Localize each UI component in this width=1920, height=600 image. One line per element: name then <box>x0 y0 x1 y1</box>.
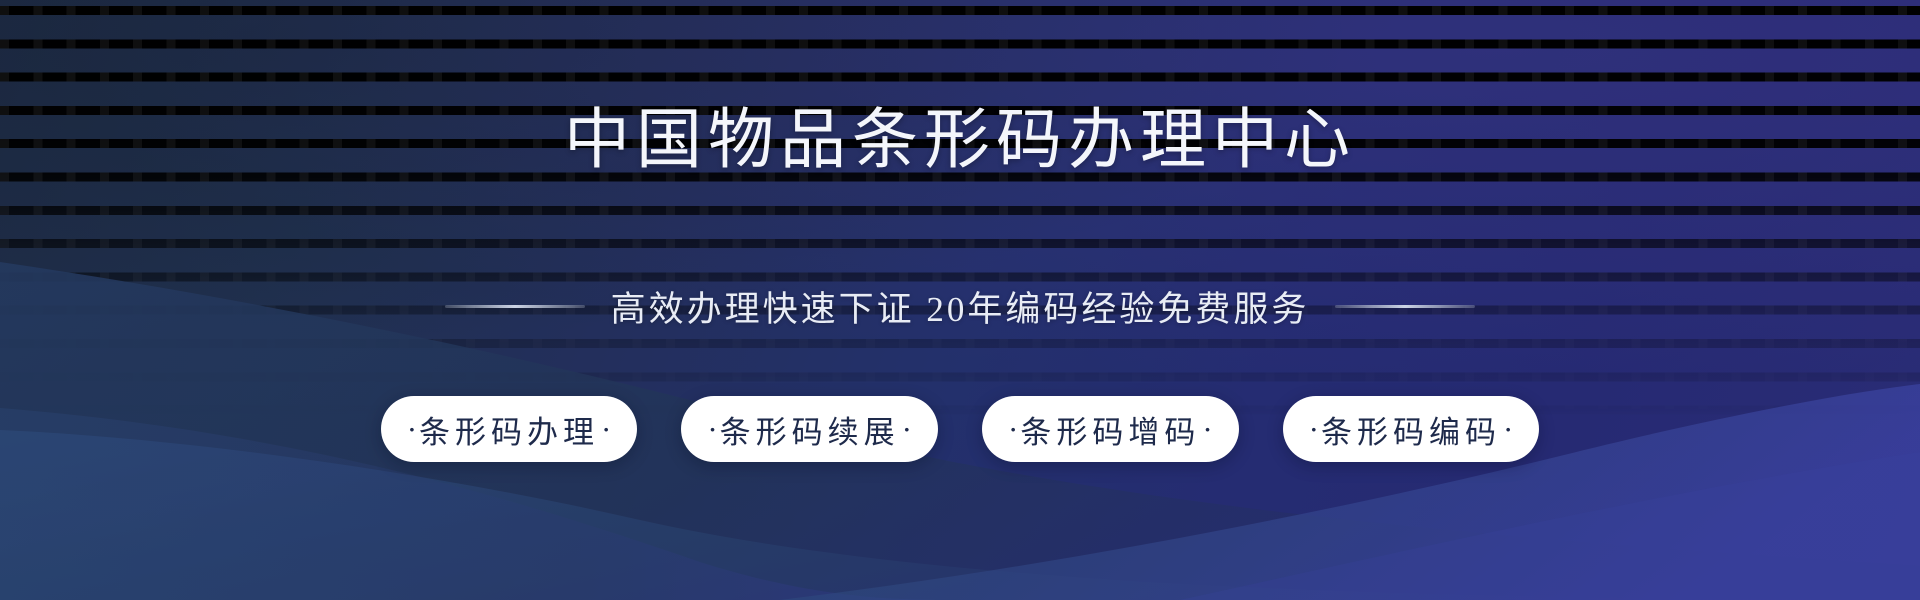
bullet-dot-right-icon: · <box>1202 414 1212 445</box>
pill-label: 条形码办理 <box>417 407 601 452</box>
promo-banner: 中国物品条形码办理中心 高效办理快速下证 20年编码经验免费服务 · 条形码办理… <box>0 0 1920 600</box>
bullet-dot-right-icon: · <box>902 414 912 445</box>
subtitle-text: 高效办理快速下证 20年编码经验免费服务 <box>611 281 1310 332</box>
pill-barcode-encoding[interactable]: · 条形码编码 · <box>1283 396 1540 462</box>
bullet-dot-left-icon: · <box>1008 414 1018 445</box>
bullet-dot-right-icon: · <box>601 414 611 445</box>
pill-label: 条形码续展 <box>718 407 902 452</box>
rule-left-decoration <box>445 305 585 308</box>
pill-label: 条形码增码 <box>1018 407 1202 452</box>
bullet-dot-left-icon: · <box>1309 414 1319 445</box>
page-title: 中国物品条形码办理中心 <box>0 108 1920 174</box>
subtitle-row: 高效办理快速下证 20年编码经验免费服务 <box>0 281 1920 332</box>
banner-content: 中国物品条形码办理中心 高效办理快速下证 20年编码经验免费服务 · 条形码办理… <box>0 0 1920 600</box>
pill-barcode-apply[interactable]: · 条形码办理 · <box>381 396 638 462</box>
bullet-dot-left-icon: · <box>707 414 717 445</box>
service-pill-row: · 条形码办理 · · 条形码续展 · · 条形码增码 · · 条形码编码 · <box>0 396 1920 462</box>
bullet-dot-right-icon: · <box>1503 414 1513 445</box>
pill-barcode-add-codes[interactable]: · 条形码增码 · <box>982 396 1239 462</box>
bullet-dot-left-icon: · <box>407 414 417 445</box>
rule-right-decoration <box>1335 305 1475 308</box>
pill-label: 条形码编码 <box>1319 407 1503 452</box>
pill-barcode-renewal[interactable]: · 条形码续展 · <box>681 396 938 462</box>
